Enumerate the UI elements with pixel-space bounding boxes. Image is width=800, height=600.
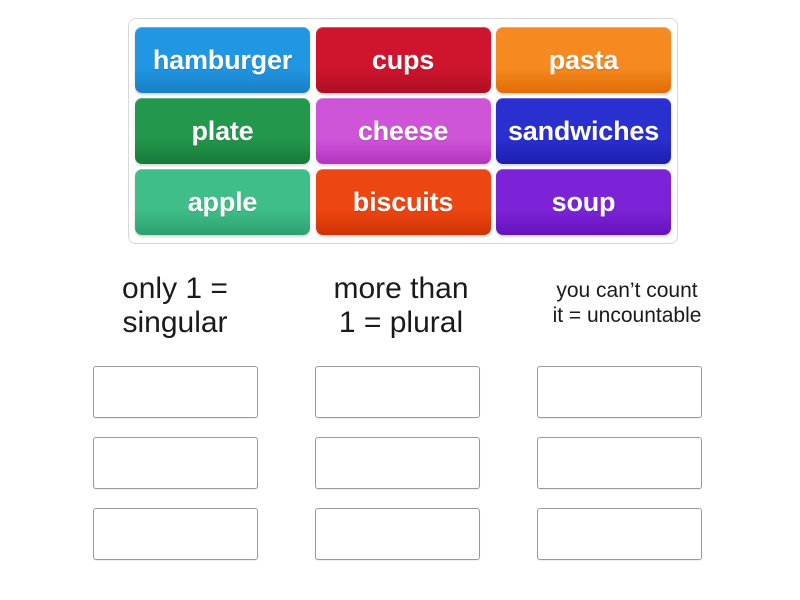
tile-row: apple biscuits soup (135, 169, 671, 237)
tile-row: plate cheese sandwiches (135, 98, 671, 166)
category-heading-singular: only 1 = singular (62, 272, 288, 352)
dropzone-grid (0, 366, 800, 560)
dropzone-slot[interactable] (93, 437, 258, 489)
dropzone-slot[interactable] (93, 508, 258, 560)
category-heading-plural: more than 1 = plural (288, 272, 514, 352)
word-tile[interactable]: hamburger (135, 27, 310, 93)
word-tile[interactable]: apple (135, 169, 310, 235)
word-tile[interactable]: cups (316, 27, 491, 93)
word-tile[interactable]: soup (496, 169, 671, 235)
dropzone-row (0, 437, 800, 489)
word-tile[interactable]: plate (135, 98, 310, 164)
dropzone-slot[interactable] (537, 437, 702, 489)
category-heading-uncountable: you can’t count it = uncountable (514, 272, 740, 352)
dropzone-slot[interactable] (537, 366, 702, 418)
layout-spacer (0, 508, 93, 560)
dropzone-row (0, 366, 800, 418)
layout-spacer (0, 366, 93, 418)
category-headings: only 1 = singular more than 1 = plural y… (0, 272, 800, 352)
dropzone-slot[interactable] (315, 437, 480, 489)
word-tile[interactable]: sandwiches (496, 98, 671, 164)
dropzone-slot[interactable] (537, 508, 702, 560)
dropzone-row (0, 508, 800, 560)
dropzone-slot[interactable] (315, 508, 480, 560)
word-tile-tray: hamburger cups pasta plate cheese sandwi… (128, 18, 678, 244)
dropzone-slot[interactable] (93, 366, 258, 418)
word-tile[interactable]: pasta (496, 27, 671, 93)
tile-row: hamburger cups pasta (135, 27, 671, 95)
word-tile[interactable]: cheese (316, 98, 491, 164)
dropzone-slot[interactable] (315, 366, 480, 418)
layout-spacer (0, 437, 93, 489)
word-tile[interactable]: biscuits (316, 169, 491, 235)
